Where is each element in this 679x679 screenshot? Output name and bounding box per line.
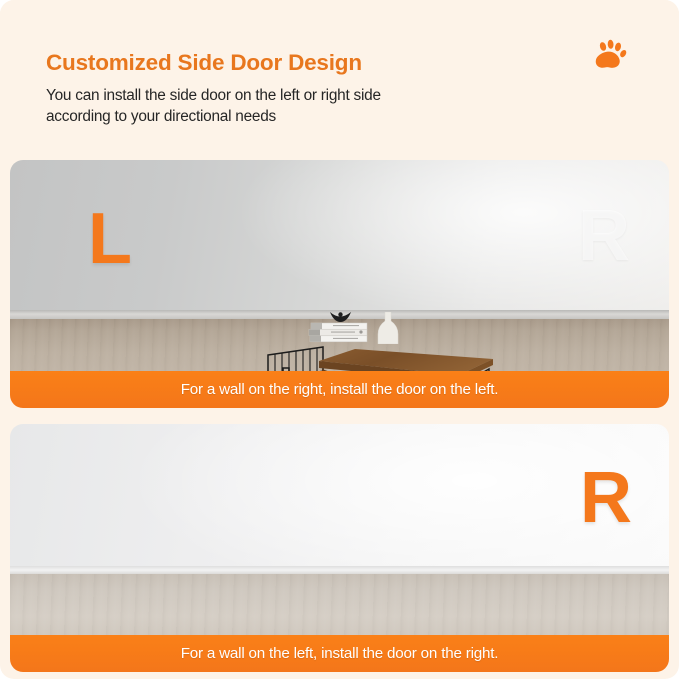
caption-text: For a wall on the left, install the door…: [181, 645, 499, 662]
caption-bar-left: For a wall on the right, install the doo…: [10, 371, 669, 408]
page-title: Customized Side Door Design: [46, 50, 362, 76]
caption-bar-right: For a wall on the left, install the door…: [10, 635, 669, 672]
accent-letter-right: R: [580, 462, 632, 534]
panel-right-door: R: [10, 424, 669, 672]
page-subtitle: You can install the side door on the lef…: [46, 85, 381, 127]
accent-letter-left: L: [88, 203, 132, 275]
header: Customized Side Door Design You can inst…: [0, 0, 679, 158]
caption-text: For a wall on the right, install the doo…: [181, 381, 499, 398]
paw-print-icon: [592, 38, 628, 74]
panel-left-door: L R: [10, 160, 669, 408]
infographic-page: Customized Side Door Design You can inst…: [0, 0, 679, 679]
baseboard: [10, 566, 669, 574]
ghost-letter-right: R: [578, 200, 630, 272]
wall-background: [10, 424, 669, 566]
